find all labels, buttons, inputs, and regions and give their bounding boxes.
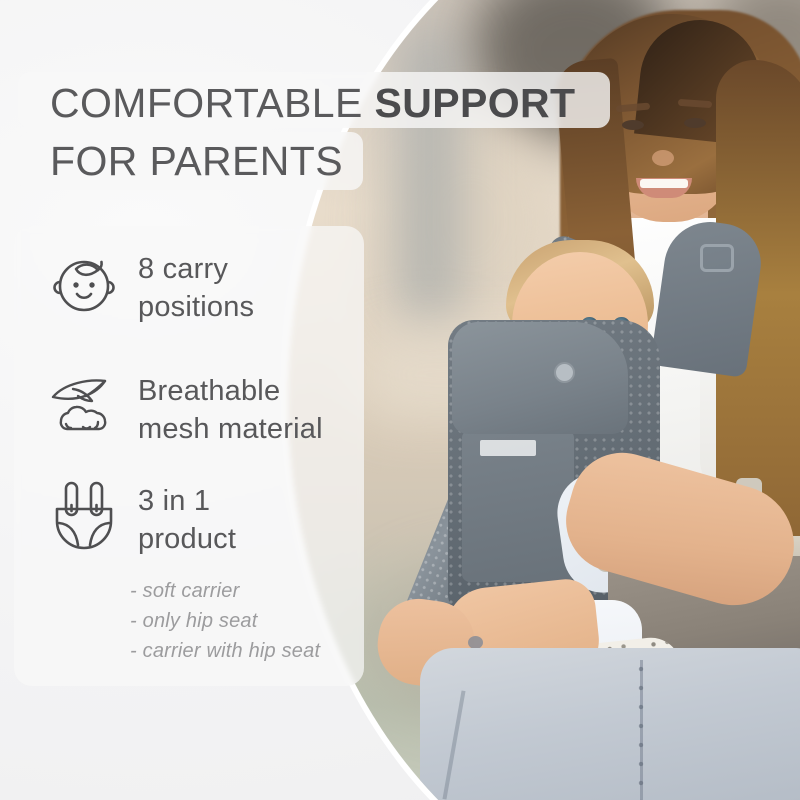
feature-label: 3 in 1 product [138,478,236,558]
carrier-head-flap [452,322,628,434]
feature-item-breathable-mesh: Breathable mesh material [48,368,323,448]
jeans-button-fly [636,664,646,800]
list-item: - only hip seat [130,606,320,636]
list-item: - carrier with hip seat [130,636,320,666]
feature-item-carry-positions: 8 carry positions [48,246,254,326]
feature-label: Breathable mesh material [138,368,323,448]
carrier-buckle [700,244,734,272]
leaf-cloud-icon [48,368,120,446]
baby-face-icon [48,246,120,324]
carrier-brand-label [480,440,536,456]
product-infographic: COMFORTABLE SUPPORT FOR PARENTS 8 carry … [0,0,800,800]
headline-line2: FOR PARENTS [50,138,343,184]
carrier-snap-button [554,362,575,383]
mother-eye [684,118,706,128]
headline-line1-bold: SUPPORT [375,80,576,126]
page-title: COMFORTABLE SUPPORT FOR PARENTS [50,74,670,190]
list-item: - soft carrier [130,576,320,606]
mother-jeans [420,648,800,800]
carrier-icon [48,478,120,556]
headline-line1-normal: COMFORTABLE [50,80,375,126]
feature-label: 8 carry positions [138,246,254,326]
product-modes-list: - soft carrier - only hip seat - carrier… [130,576,320,666]
feature-item-3-in-1: 3 in 1 product [48,478,236,558]
